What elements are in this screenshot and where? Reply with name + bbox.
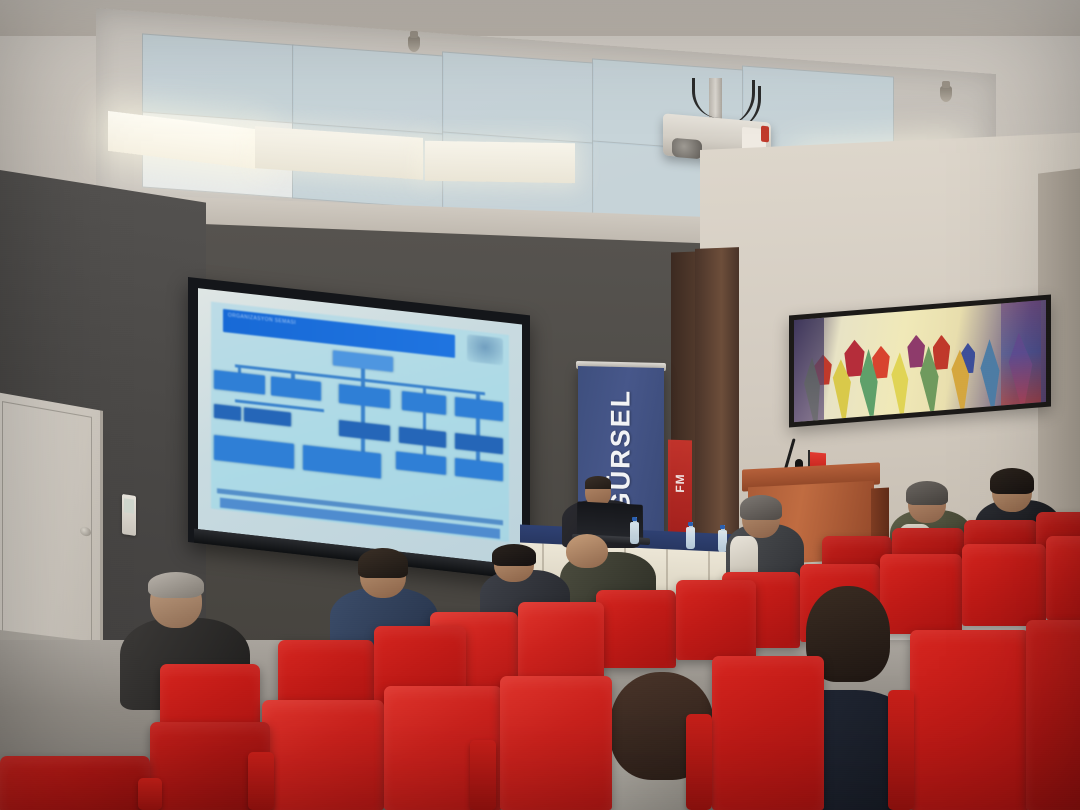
sprinkler-icon bbox=[408, 36, 420, 52]
auditorium-seat[interactable] bbox=[1046, 536, 1080, 620]
auditorium-seat[interactable] bbox=[0, 756, 150, 810]
audience-person-head bbox=[566, 534, 608, 568]
org-node bbox=[214, 370, 265, 394]
org-node bbox=[214, 404, 241, 422]
projector-indicator bbox=[761, 126, 769, 143]
wood-column bbox=[695, 247, 739, 549]
org-node bbox=[244, 407, 292, 427]
org-node bbox=[303, 445, 381, 479]
auditorium-seat[interactable] bbox=[910, 630, 1030, 810]
auditorium-seat[interactable] bbox=[712, 656, 824, 810]
slide-content: ORGANIZASYON SEMASI bbox=[211, 302, 509, 543]
ceiling-light-panel-center-right bbox=[425, 141, 575, 184]
audience-person-collar bbox=[730, 536, 758, 576]
audience-person-hair bbox=[148, 572, 204, 598]
wall-painting bbox=[789, 294, 1051, 427]
light-switch[interactable] bbox=[122, 494, 136, 536]
auditorium-seat[interactable] bbox=[1026, 620, 1080, 810]
projection-screen: ORGANIZASYON SEMASI bbox=[188, 277, 530, 580]
auditorium-seat[interactable] bbox=[500, 676, 612, 810]
water-bottle bbox=[686, 527, 695, 549]
org-node bbox=[396, 451, 447, 475]
org-node bbox=[271, 377, 322, 401]
seat-armrest bbox=[470, 740, 496, 810]
secondary-banner-text: FM bbox=[673, 473, 687, 493]
bottle-cap-icon bbox=[688, 522, 693, 526]
painting-canvas bbox=[794, 300, 1046, 422]
org-node bbox=[455, 458, 503, 482]
audience-person-hair bbox=[358, 548, 408, 578]
audience-person-hair bbox=[906, 481, 948, 505]
seat-armrest bbox=[888, 690, 914, 810]
auditorium-seat[interactable] bbox=[262, 700, 384, 810]
org-node bbox=[402, 391, 447, 415]
bottle-cap-icon bbox=[720, 525, 725, 529]
audience-person-hair bbox=[492, 544, 536, 566]
water-bottle bbox=[630, 522, 639, 544]
bottle-cap-icon bbox=[632, 517, 637, 521]
slide-logo-icon bbox=[467, 335, 503, 366]
auditorium-seat[interactable] bbox=[880, 554, 962, 634]
auditorium-seat[interactable] bbox=[962, 544, 1046, 626]
seat-armrest bbox=[248, 752, 274, 810]
seat-armrest bbox=[686, 714, 712, 810]
sprinkler-icon bbox=[940, 86, 952, 102]
presenter-hair bbox=[585, 476, 611, 489]
screen-surface: ORGANIZASYON SEMASI bbox=[198, 288, 522, 565]
conference-room-photo: ORGANIZASYON SEMASI bbox=[0, 0, 1080, 810]
audience-person-hair bbox=[990, 468, 1034, 494]
seat-armrest bbox=[138, 778, 162, 810]
audience-person-hair bbox=[740, 495, 782, 520]
slide-title-text: ORGANIZASYON SEMASI bbox=[228, 313, 296, 327]
auditorium-seat[interactable] bbox=[676, 580, 756, 660]
org-node bbox=[214, 435, 294, 469]
auditorium-seat[interactable] bbox=[518, 602, 604, 686]
projector-lens-icon bbox=[672, 138, 702, 160]
auditorium-seat[interactable] bbox=[596, 590, 676, 668]
